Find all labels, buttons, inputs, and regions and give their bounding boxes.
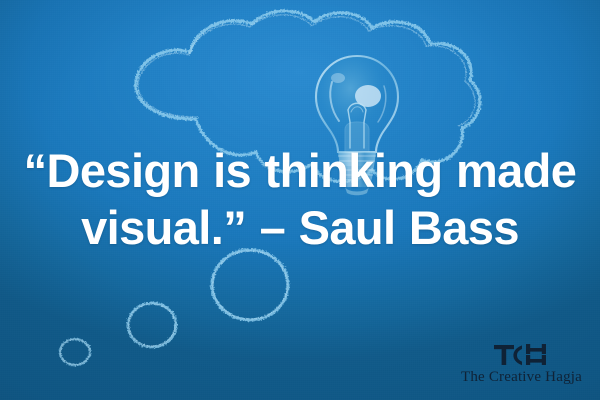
- quote-line-1: “Design is thinking made: [0, 142, 600, 199]
- quote-line-2: visual.” – Saul Bass: [0, 199, 600, 256]
- logo-wordmark: The Creative Hagja: [461, 369, 582, 386]
- quote-text: “Design is thinking made visual.” – Saul…: [0, 142, 600, 256]
- quote-poster: “Design is thinking made visual.” – Saul…: [0, 0, 600, 400]
- brand-logo: The Creative Hagja: [461, 342, 582, 386]
- logo-monogram-tch: [491, 342, 551, 368]
